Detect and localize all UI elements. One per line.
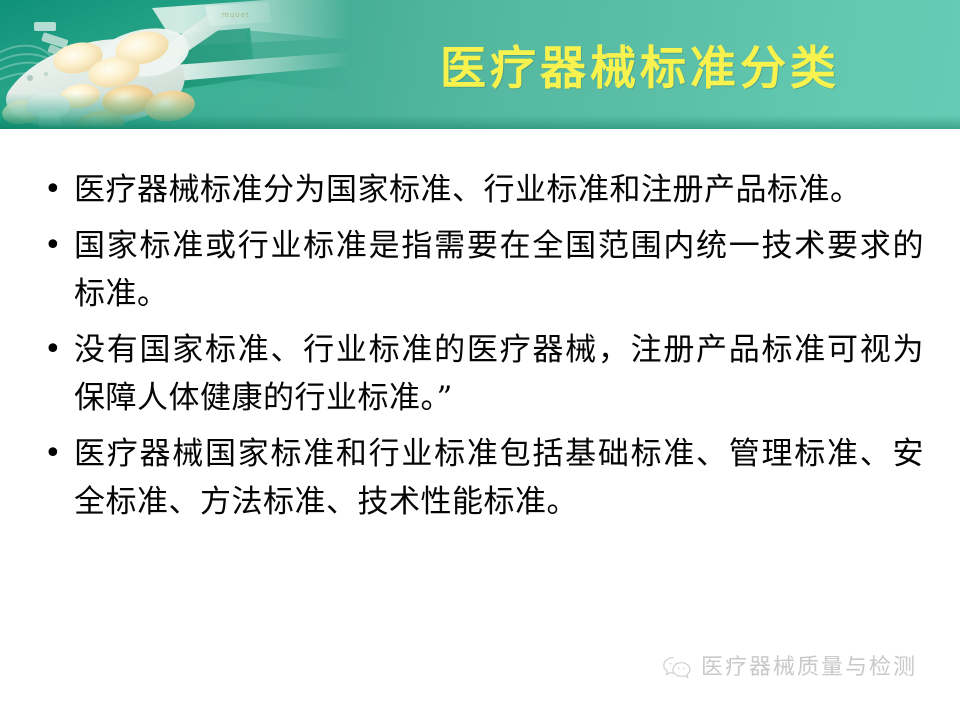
header-banner: mquet [0, 0, 960, 129]
list-item-text: 医疗器械国家标准和行业标准包括基础标准、管理标准、安全标准、方法标准、技术性能标… [74, 430, 924, 526]
bullet-dot-icon: • [44, 430, 74, 478]
slide-root: mquet [0, 0, 960, 720]
list-item-text: 没有国家标准、行业标准的医疗器械，注册产品标准可视为保障人体健康的行业标准。” [74, 326, 924, 422]
bullet-list: • 医疗器械标准分为国家标准、行业标准和注册产品标准。 • 国家标准或行业标准是… [44, 166, 924, 534]
list-item-text: 国家标准或行业标准是指需要在全国范围内统一技术要求的标准。 [74, 222, 924, 318]
svg-text:mquet: mquet [222, 11, 250, 19]
list-item: • 医疗器械国家标准和行业标准包括基础标准、管理标准、安全标准、方法标准、技术性… [44, 430, 924, 526]
footer-watermark: 医疗器械质量与检测 [662, 655, 917, 681]
list-item: • 没有国家标准、行业标准的医疗器械，注册产品标准可视为保障人体健康的行业标准。… [44, 326, 924, 422]
watermark-label: 医疗器械质量与检测 [701, 655, 917, 681]
list-item: • 医疗器械标准分为国家标准、行业标准和注册产品标准。 [44, 166, 924, 214]
list-item-text: 医疗器械标准分为国家标准、行业标准和注册产品标准。 [74, 166, 924, 214]
page-title: 医疗器械标准分类 [360, 44, 920, 92]
bullet-dot-icon: • [44, 166, 74, 214]
bullet-dot-icon: • [44, 326, 74, 374]
wechat-icon [662, 655, 692, 681]
surgical-light-photo: mquet [0, 0, 350, 129]
bullet-dot-icon: • [44, 222, 74, 270]
list-item: • 国家标准或行业标准是指需要在全国范围内统一技术要求的标准。 [44, 222, 924, 318]
